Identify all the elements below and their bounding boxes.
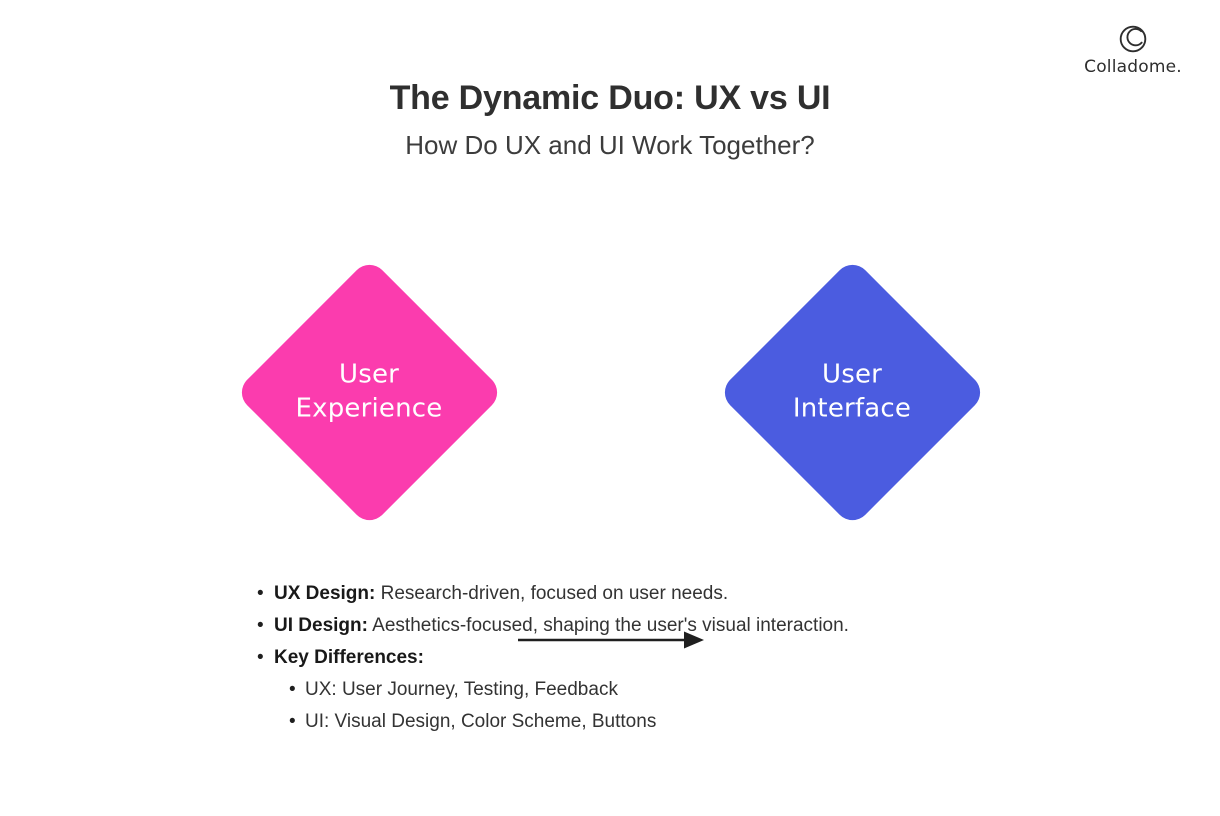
list-item: UX: User Journey, Testing, Feedback xyxy=(305,674,1132,706)
diagram-node-label-ux: User Experience xyxy=(234,358,504,427)
brand-logo: Colladome. xyxy=(1068,22,1198,76)
list-item-text: UI: Visual Design, Color Scheme, Buttons xyxy=(305,711,656,732)
diagram-node-label-ui: User Interface xyxy=(717,358,987,427)
page-title: The Dynamic Duo: UX vs UI xyxy=(0,78,1220,118)
list-item: UI Design: Aesthetics-focused, shaping t… xyxy=(274,610,1132,642)
list-item: UI: Visual Design, Color Scheme, Buttons xyxy=(305,706,1132,738)
page-subtitle: How Do UX and UI Work Together? xyxy=(0,130,1220,161)
brand-name: Colladome. xyxy=(1084,59,1182,76)
colladome-spiral-icon xyxy=(1116,22,1150,56)
list-item-label: UX Design: xyxy=(274,583,375,604)
list-item: UX Design: Research-driven, focused on u… xyxy=(274,578,1132,610)
ux-ui-diagram: User Experience User Interface xyxy=(0,250,1220,540)
list-item: Key Differences: UX: User Journey, Testi… xyxy=(274,642,1132,738)
diagram-node-user-experience: User Experience xyxy=(234,256,504,528)
list-item-label: UI Design: xyxy=(274,615,368,636)
diagram-node-user-interface: User Interface xyxy=(717,256,987,528)
key-points-list: UX Design: Research-driven, focused on u… xyxy=(252,578,1132,738)
list-item-text: Aesthetics-focused, shaping the user's v… xyxy=(368,615,849,636)
bullet-list-level-1: UX Design: Research-driven, focused on u… xyxy=(252,578,1132,738)
list-item-text: Research-driven, focused on user needs. xyxy=(375,583,728,604)
list-item-label: Key Differences: xyxy=(274,647,424,668)
bullet-list-level-2: UX: User Journey, Testing, Feedback UI: … xyxy=(274,674,1132,738)
heading-block: The Dynamic Duo: UX vs UI How Do UX and … xyxy=(0,78,1220,161)
list-item-text: UX: User Journey, Testing, Feedback xyxy=(305,679,618,700)
